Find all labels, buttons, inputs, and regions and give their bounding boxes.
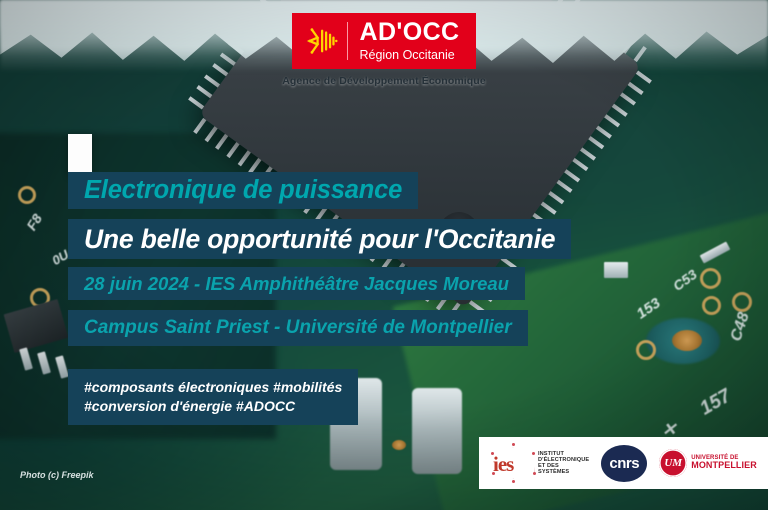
partner-logo-strip: ies INSTITUT D'ÉLECTRONIQUE ET DES SYSTÈ… [479,437,768,489]
date-venue-band: 28 juin 2024 - IES Amphithéâtre Jacques … [68,267,525,300]
cnrs-oval-icon: cnrs [601,445,647,482]
campus-band: Campus Saint Priest - Université de Mont… [68,310,528,346]
occitan-cross-icon [304,24,338,58]
hashtags-band: #composants électroniques #mobilités #co… [68,369,358,425]
title-band: Electronique de puissance [68,172,418,209]
um-full-name: UNIVERSITÉ DE MONTPELLIER [691,455,757,471]
photo-credit: Photo (c) Freepik [20,470,94,480]
event-date-venue: 28 juin 2024 - IES Amphithéâtre Jacques … [84,273,509,295]
subtitle-band: Une belle opportunité pour l'Occitanie [68,219,571,259]
event-poster: 153 C53 157 C48 ✕ F8 0U [0,0,768,510]
ies-node [533,472,536,475]
ies-node [512,443,515,446]
hashtags-line-1: #composants électroniques #mobilités [84,378,342,397]
um-seal-icon: UM [659,449,687,477]
adocc-name: AD'OCC [359,20,459,45]
partner-logo-universite-montpellier: UM UNIVERSITÉ DE MONTPELLIER [659,449,757,477]
event-title: Electronique de puissance [84,176,402,205]
ies-full-name: INSTITUT D'ÉLECTRONIQUE ET DES SYSTÈMES [538,451,589,476]
event-campus: Campus Saint Priest - Université de Mont… [84,317,512,339]
partner-logo-ies: ies INSTITUT D'ÉLECTRONIQUE ET DES SYSTÈ… [491,443,589,483]
um-monogram: UM [664,457,682,469]
ies-node [532,452,535,455]
cnrs-wordmark: cnrs [609,455,639,472]
adocc-logo-box: AD'OCC Région Occitanie [292,13,475,69]
ies-hexagon-icon: ies [491,443,535,483]
ies-node [512,480,515,483]
adocc-wordmark: AD'OCC Région Occitanie [359,20,459,62]
ies-wordmark: ies [493,452,513,477]
adocc-region: Région Occitanie [359,49,459,62]
decorative-white-square [68,134,92,175]
adocc-tagline: Agence de Développement Économique [282,75,486,87]
event-subtitle: Une belle opportunité pour l'Occitanie [84,224,555,255]
logo-divider [347,22,348,60]
um-line-2: MONTPELLIER [691,461,757,471]
hashtags-line-2: #conversion d'énergie #ADOCC [84,397,295,416]
ies-line-3: ET DES SYSTÈMES [538,463,589,476]
partner-logo-cnrs: cnrs [601,445,647,482]
adocc-logo: AD'OCC Région Occitanie Agence de Dévelo… [0,13,768,87]
